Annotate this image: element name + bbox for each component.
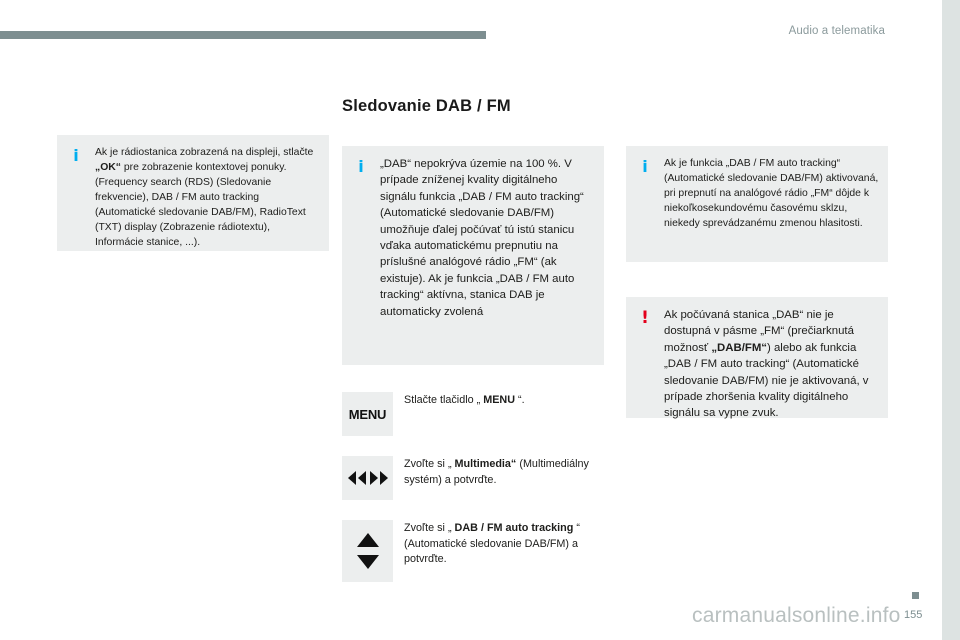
step-3: Zvoľte si „ DAB / FM auto tracking “ (Au…: [342, 520, 607, 582]
step-2: Zvoľte si „ Multimedia“ (Multimediálny s…: [342, 456, 607, 500]
up-down-key-icon[interactable]: [342, 520, 393, 582]
header-rule: [0, 31, 486, 39]
callout-right-info-text: Ak je funkcia „DAB / FM auto tracking“ (…: [664, 156, 880, 231]
step-2-text: Zvoľte si „ Multimedia“ (Multimediálny s…: [393, 456, 607, 488]
page-right-rail: [942, 0, 960, 640]
page-title: Sledovanie DAB / FM: [342, 97, 511, 116]
info-icon: i: [638, 159, 652, 175]
header-section-label: Audio a telematika: [789, 25, 885, 37]
menu-key-icon[interactable]: MENU: [342, 392, 393, 436]
info-icon: i: [69, 148, 83, 164]
callout-left-info-text: Ak je rádiostanica zobrazená na displeji…: [95, 145, 321, 250]
info-icon: i: [354, 159, 368, 175]
warning-icon: !: [638, 310, 652, 327]
step-3-text: Zvoľte si „ DAB / FM auto tracking “ (Au…: [393, 520, 607, 568]
procedure-steps: MENU Stlačte tlačidlo „ MENU “. Zvoľte s…: [342, 392, 607, 602]
step-1: MENU Stlačte tlačidlo „ MENU “.: [342, 392, 607, 436]
callout-right-warning-text: Ak počúvaná stanica „DAB“ nie je dostupn…: [664, 307, 880, 422]
callout-left-info: i Ak je rádiostanica zobrazená na disple…: [57, 135, 329, 251]
document-page: Audio a telematika Sledovanie DAB / FM i…: [0, 0, 960, 640]
footer-marker: [912, 592, 919, 599]
callout-middle-info: i „DAB“ nepokrýva územie na 100 %. V prí…: [342, 146, 604, 365]
callout-right-warning: ! Ak počúvaná stanica „DAB“ nie je dostu…: [626, 297, 888, 418]
watermark: carmanualsonline.info: [692, 604, 901, 628]
step-1-text: Stlačte tlačidlo „ MENU “.: [393, 392, 607, 409]
rewind-forward-key-icon[interactable]: [342, 456, 393, 500]
callout-middle-info-text: „DAB“ nepokrýva územie na 100 %. V prípa…: [380, 156, 596, 320]
callout-right-info: i Ak je funkcia „DAB / FM auto tracking“…: [626, 146, 888, 262]
page-number: 155: [904, 609, 922, 621]
